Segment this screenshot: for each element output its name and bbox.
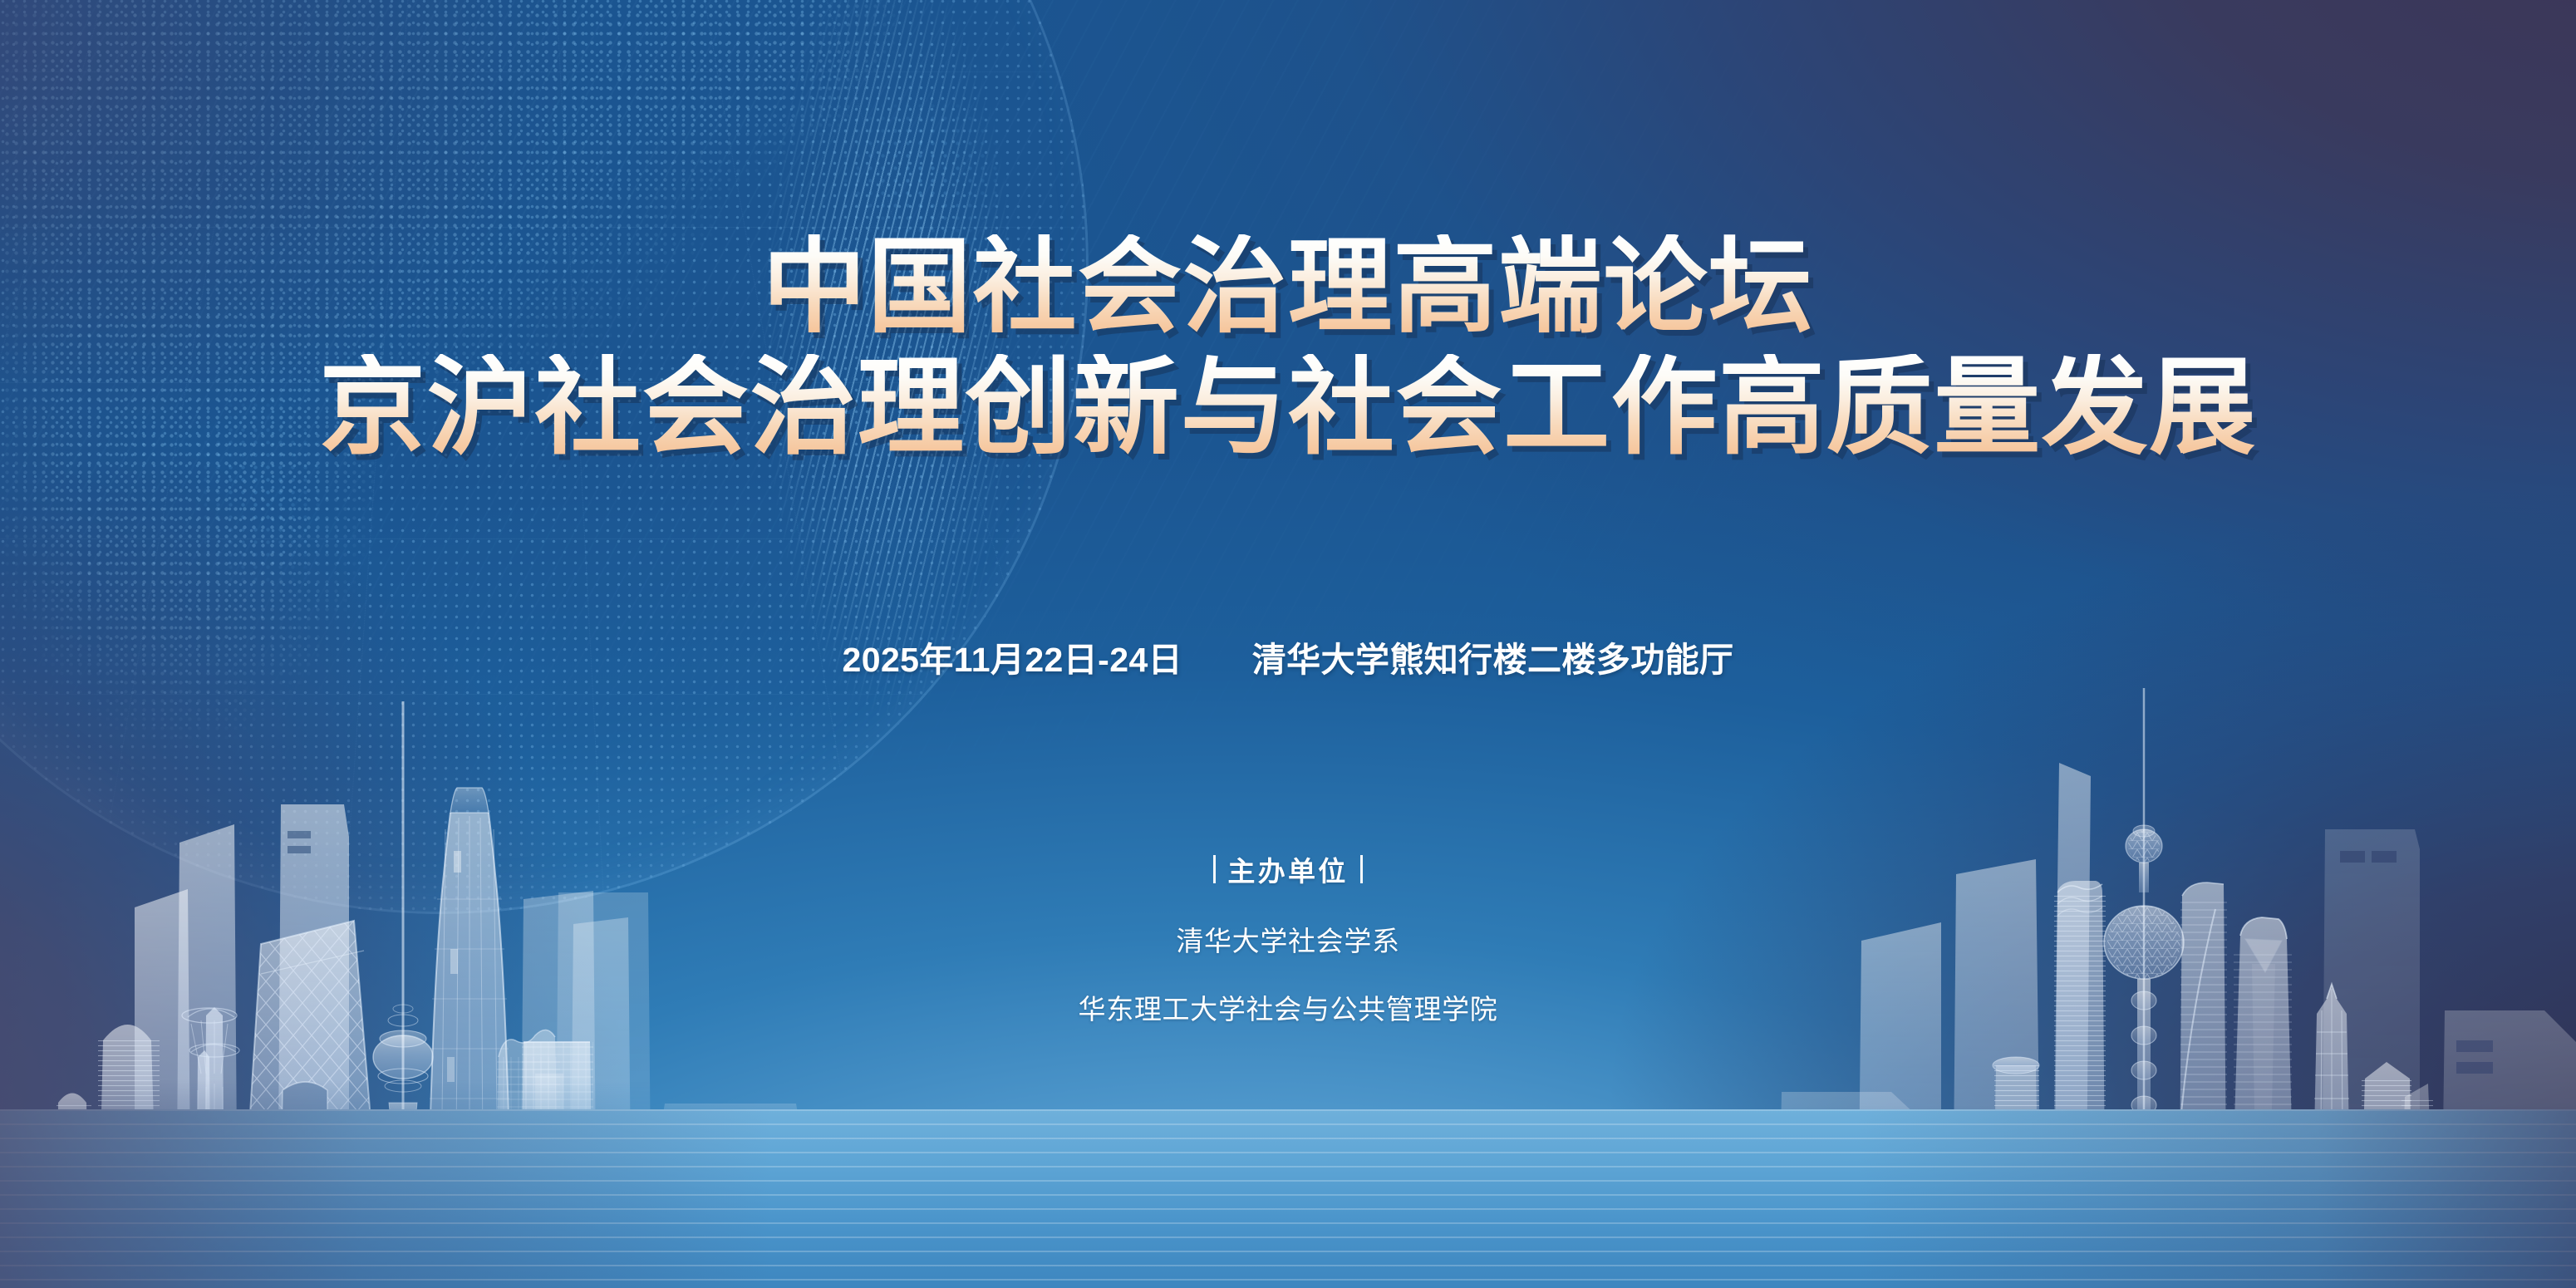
divider-bar-left-icon (1213, 855, 1216, 883)
organizer-name-1: 清华大学社会学系 (0, 919, 2576, 959)
organizer-heading-label: 主办单位 (1227, 849, 1348, 889)
divider-bar-right-icon (1360, 855, 1363, 883)
poster-canvas: 中国社会治理高端论坛 京沪社会治理创新与社会工作高质量发展 2025年11月22… (0, 0, 2576, 1288)
poster-title-line-1: 中国社会治理高端论坛 (0, 234, 2576, 341)
organizer-block: 主办单位 清华大学社会学系 华东理工大学社会与公共管理学院 (0, 849, 2576, 1027)
poster-date: 2025年11月22日-24日 (843, 641, 1183, 679)
organizer-name-2: 华东理工大学社会与公共管理学院 (0, 987, 2576, 1027)
poster-date-venue-row: 2025年11月22日-24日 清华大学熊知行楼二楼多功能厅 (0, 632, 2576, 681)
poster-title-block: 中国社会治理高端论坛 京沪社会治理创新与社会工作高质量发展 (0, 234, 2576, 462)
poster-venue: 清华大学熊知行楼二楼多功能厅 (1252, 641, 1734, 679)
poster-text-content: 中国社会治理高端论坛 京沪社会治理创新与社会工作高质量发展 2025年11月22… (0, 0, 2576, 1288)
organizer-heading-row: 主办单位 (0, 849, 2576, 889)
poster-title-line-2: 京沪社会治理创新与社会工作高质量发展 (0, 354, 2576, 463)
organizer-heading: 主办单位 (1213, 849, 1362, 889)
